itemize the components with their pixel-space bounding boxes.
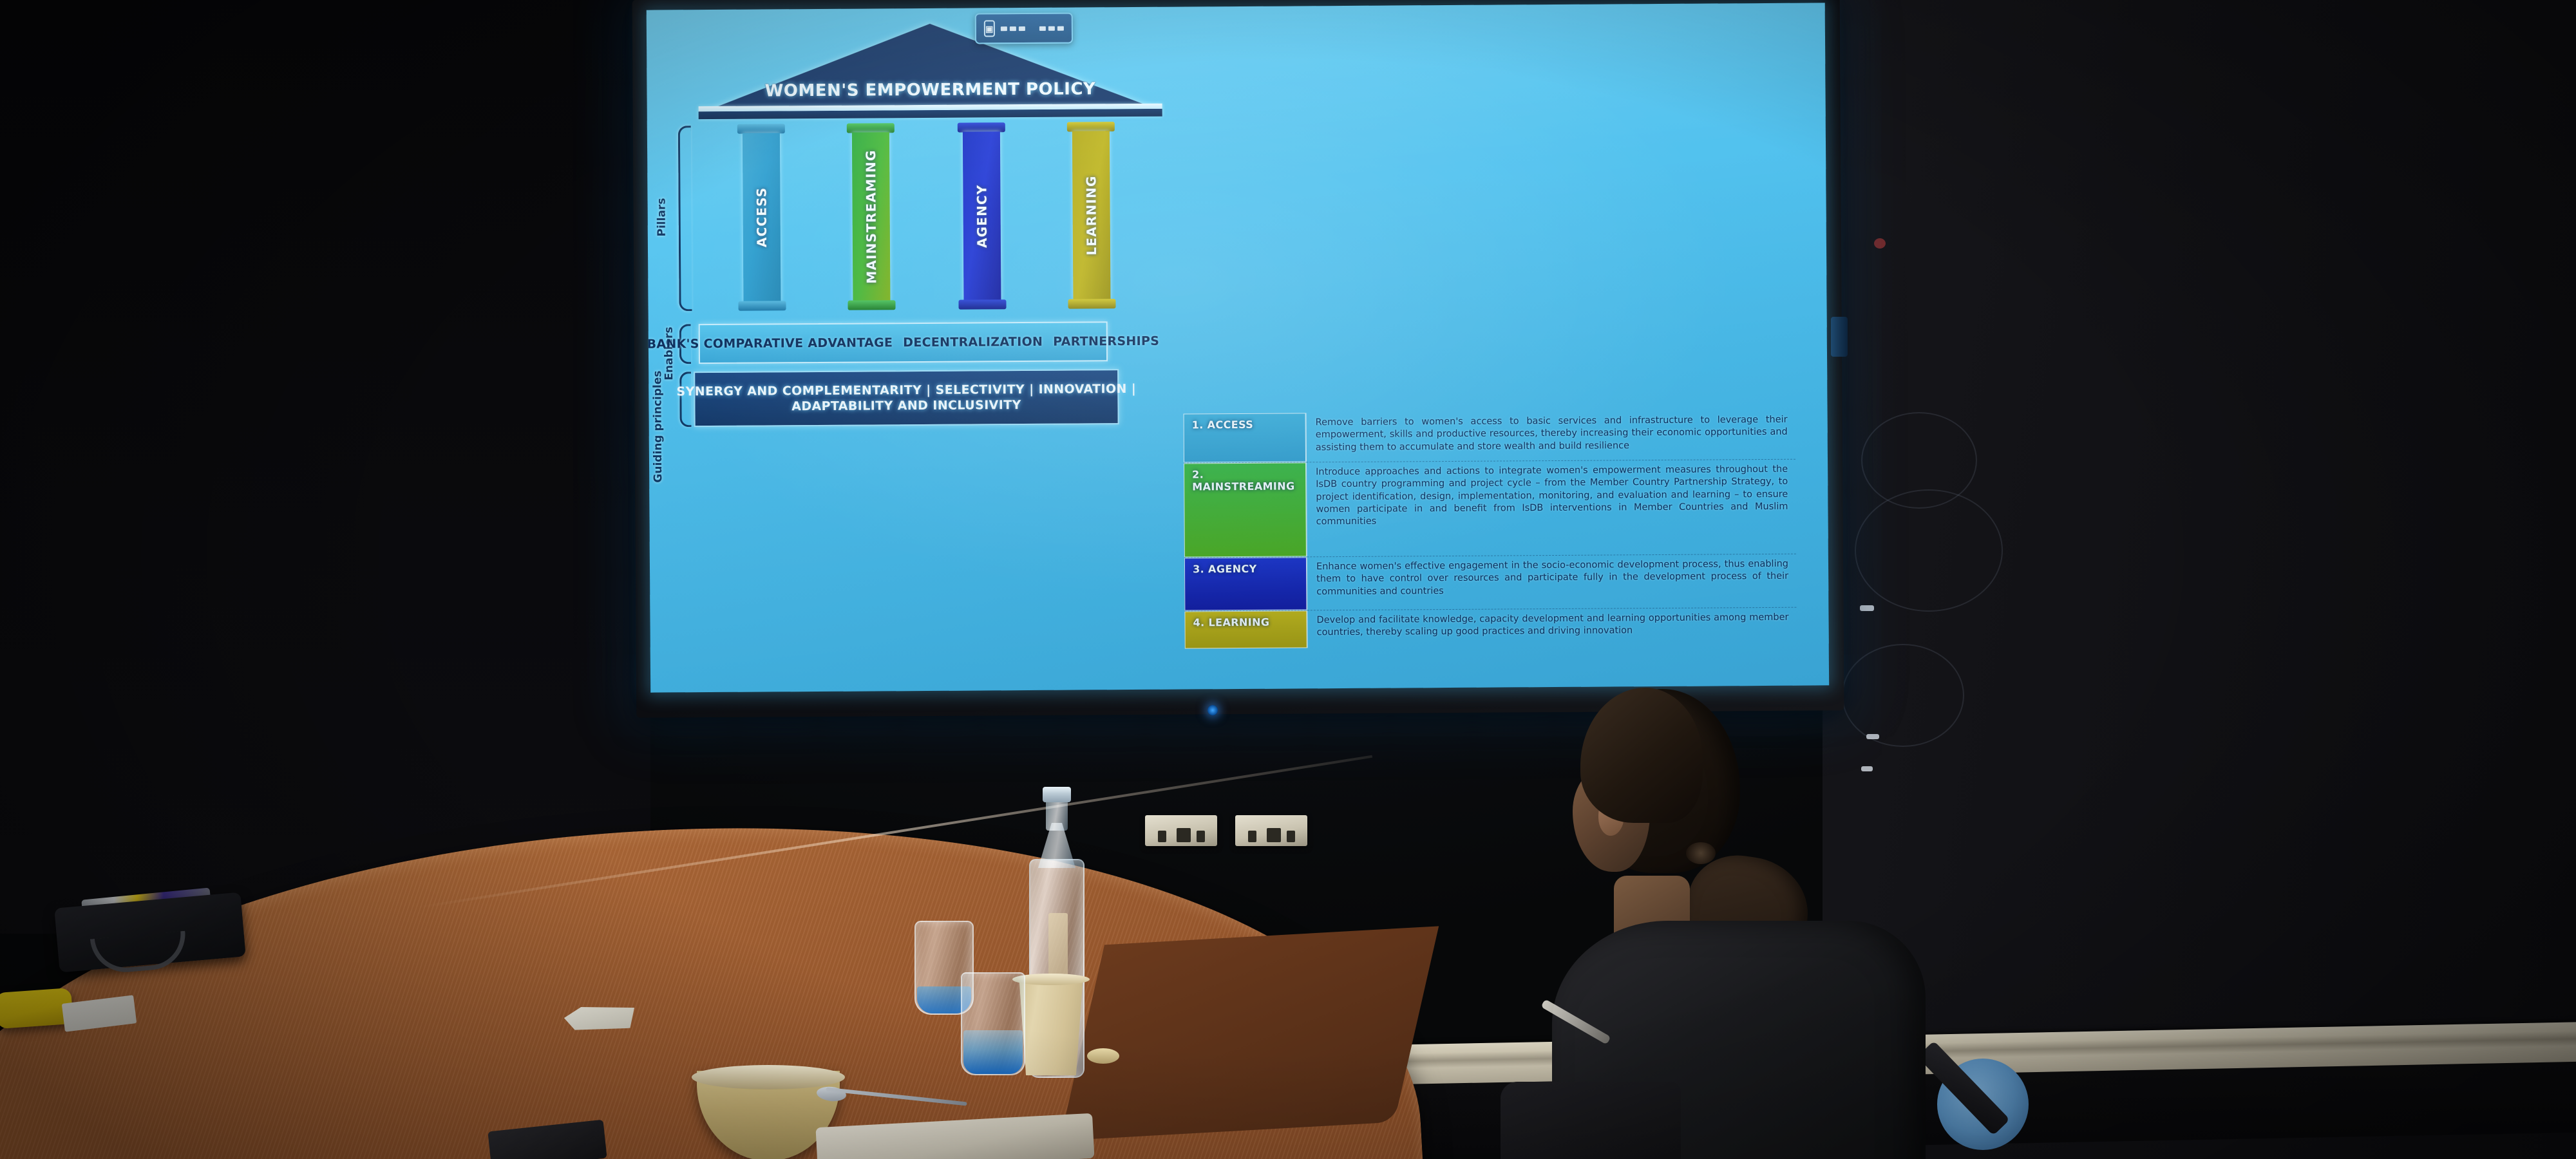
bag-on-floor — [1501, 1082, 1681, 1159]
wall-display[interactable]: ▣ WOMEN'S EMPOWERMENT POLICY ACCESS — [632, 0, 1844, 718]
architrave-beam — [699, 104, 1162, 119]
power-socket[interactable] — [1145, 815, 1217, 846]
cable-highlight — [1860, 605, 1874, 611]
pillar-label: LEARNING — [1083, 175, 1099, 255]
slide-title: WOMEN'S EMPOWERMENT POLICY — [708, 79, 1152, 101]
bottle-lid — [1087, 1048, 1119, 1064]
pillar-label: AGENCY — [974, 184, 990, 248]
pillar-base — [958, 299, 1006, 309]
pillar-base — [848, 300, 895, 310]
pillar-description-table: 1. ACCESS Remove barriers to women's acc… — [1184, 410, 1797, 649]
bottle-cap — [1043, 787, 1071, 802]
row-description-mainstreaming: Introduce approaches and actions to inte… — [1306, 460, 1796, 557]
row-label-mainstreaming: 2. MAINSTREAMING — [1184, 462, 1307, 557]
pillar-label: ACCESS — [753, 187, 770, 248]
guiding-principles-line-1: SYNERGY AND COMPLEMENTARITY | SELECTIVIT… — [676, 381, 1136, 400]
paper-cup — [1016, 977, 1086, 1075]
power-socket[interactable] — [1235, 815, 1307, 846]
row-description-learning: Develop and facilitate knowledge, capaci… — [1307, 608, 1796, 648]
enablers-axis-label: Enablers — [664, 326, 676, 380]
display-side-button[interactable] — [1831, 317, 1848, 357]
pillar-base — [1068, 299, 1115, 308]
bowl-rim — [692, 1065, 845, 1089]
cable-loop — [1855, 489, 2003, 612]
enabler-item-1: BANK'S COMPARATIVE ADVANTAGE — [647, 335, 893, 351]
pillars-axis-label: Pillars — [656, 198, 668, 236]
pillar-mainstreaming: MAINSTREAMING — [852, 123, 891, 310]
pillar-access: ACCESS — [743, 124, 781, 310]
seated-viewer — [1526, 683, 2003, 1159]
display-power-led-icon — [1207, 705, 1218, 715]
menu-dots-icon-2[interactable] — [1039, 26, 1064, 30]
device-led — [1874, 238, 1886, 249]
pillar-label: MAINSTREAMING — [863, 149, 879, 283]
table-row: 4. LEARNING Develop and facilitate knowl… — [1184, 608, 1796, 649]
pillar-agency: AGENCY — [963, 122, 1001, 309]
enabler-item-3: PARTNERSHIPS — [1053, 334, 1159, 349]
row-label-learning: 4. LEARNING — [1184, 610, 1307, 648]
row-label-access: 1. ACCESS — [1184, 413, 1306, 462]
table-row: 2. MAINSTREAMING Introduce approaches an… — [1184, 460, 1796, 558]
room-wall-left — [0, 0, 650, 934]
display-screen[interactable]: ▣ WOMEN'S EMPOWERMENT POLICY ACCESS — [647, 3, 1829, 692]
guiding-principles-axis-label: Guiding principles — [652, 370, 665, 482]
enabler-item-2: DECENTRALIZATION — [903, 335, 1043, 350]
guiding-principles-bar: SYNERGY AND COMPLEMENTARITY | SELECTIVIT… — [694, 369, 1119, 427]
pillar-shaft: MAINSTREAMING — [852, 132, 891, 301]
glass-water-short — [963, 1030, 1023, 1074]
hair — [1580, 688, 1703, 823]
presentation-icon[interactable]: ▣ — [984, 20, 995, 37]
row-description-access: Remove barriers to women's access to bas… — [1306, 410, 1795, 462]
pillar-base — [738, 301, 786, 310]
guiding-principles-line-2: ADAPTABILITY AND INCLUSIVITY — [791, 397, 1021, 414]
pillar-learning: LEARNING — [1072, 122, 1111, 308]
row-label-agency: 3. AGENCY — [1184, 557, 1307, 610]
hair-tie — [1686, 842, 1716, 864]
temple-diagram: WOMEN'S EMPOWERMENT POLICY ACCESS — [647, 3, 1828, 422]
enablers-bar: BANK'S COMPARATIVE ADVANTAGE DECENTRALIZ… — [699, 321, 1108, 364]
presentation-slide: ▣ WOMEN'S EMPOWERMENT POLICY ACCESS — [647, 3, 1829, 692]
pillar-shaft: LEARNING — [1072, 131, 1111, 299]
pillars-bracket — [678, 126, 692, 311]
row-description-agency: Enhance women's effective engagement in … — [1307, 554, 1796, 610]
table-row: 1. ACCESS Remove barriers to women's acc… — [1184, 410, 1795, 464]
table-edge — [1060, 926, 1439, 1140]
menu-dots-icon[interactable] — [1000, 26, 1025, 31]
pillar-shaft: ACCESS — [743, 133, 781, 301]
table-row: 3. AGENCY Enhance women's effective enga… — [1184, 554, 1796, 612]
presentation-toolbar[interactable]: ▣ — [975, 13, 1073, 44]
pillar-shaft: AGENCY — [963, 131, 1001, 300]
screenshot-scene: ▣ WOMEN'S EMPOWERMENT POLICY ACCESS — [0, 0, 2576, 1159]
